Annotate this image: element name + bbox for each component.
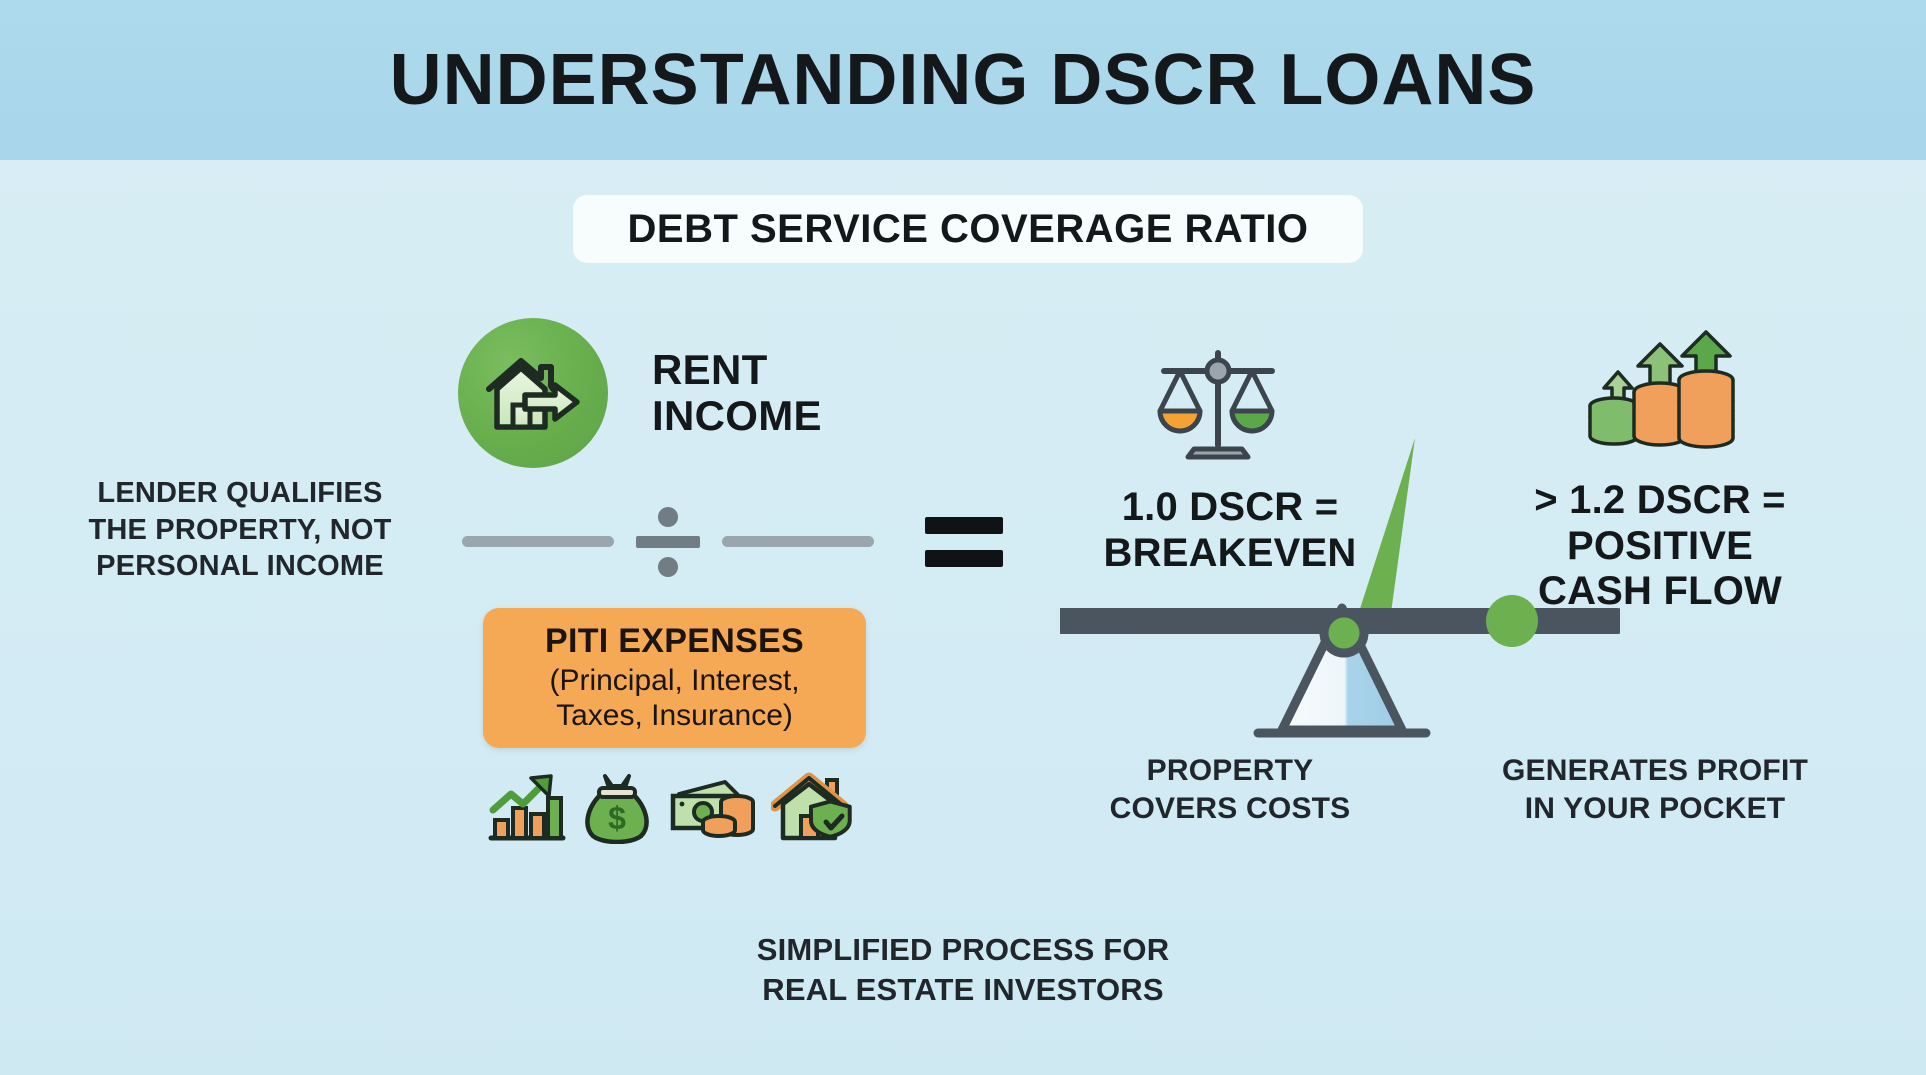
positive-caption-line-1: GENERATES PROFIT xyxy=(1480,752,1830,790)
lender-note-line-2: THE PROPERTY, NOT xyxy=(60,512,420,549)
piti-subtitle: (Principal, Interest, Taxes, Insurance) xyxy=(549,664,799,734)
footer-note: SIMPLIFIED PROCESS FOR REAL ESTATE INVES… xyxy=(663,930,1263,1009)
rent-income-label: RENT INCOME xyxy=(652,347,822,439)
division-row xyxy=(462,513,874,569)
seesaw-balance xyxy=(1060,430,1620,765)
breakeven-caption: PROPERTY COVERS COSTS xyxy=(1070,752,1390,827)
footer-line-2: REAL ESTATE INVESTORS xyxy=(663,970,1263,1010)
header-band: UNDERSTANDING DSCR LOANS xyxy=(0,0,1926,160)
piti-title: PITI EXPENSES xyxy=(545,623,804,660)
divider-rule-right xyxy=(722,536,874,547)
subtitle-label: DEBT SERVICE COVERAGE RATIO xyxy=(628,207,1309,252)
footer-line-1: SIMPLIFIED PROCESS FOR xyxy=(663,930,1263,970)
subtitle-pill: DEBT SERVICE COVERAGE RATIO xyxy=(573,195,1363,263)
breakeven-caption-line-2: COVERS COSTS xyxy=(1070,790,1390,828)
house-arrow-icon xyxy=(458,318,608,468)
divide-dot-top xyxy=(658,507,678,527)
piti-sub-line-2: Taxes, Insurance) xyxy=(549,699,799,734)
rent-income-group: RENT INCOME xyxy=(458,318,822,468)
page-title: UNDERSTANDING DSCR LOANS xyxy=(390,44,1537,116)
rent-income-line-2: INCOME xyxy=(652,393,822,439)
lender-note-line-3: PERSONAL INCOME xyxy=(60,548,420,585)
growth-chart-icon xyxy=(487,772,567,849)
equals-symbol-icon xyxy=(925,513,1003,571)
rent-income-line-1: RENT xyxy=(652,347,822,393)
divide-bar xyxy=(636,536,700,548)
positive-caption-line-2: IN YOUR POCKET xyxy=(1480,790,1830,828)
divider-rule-left xyxy=(462,536,614,547)
positive-caption: GENERATES PROFIT IN YOUR POCKET xyxy=(1480,752,1830,827)
svg-text:$: $ xyxy=(608,800,626,836)
house-shield-icon xyxy=(771,772,857,849)
breakeven-caption-line-1: PROPERTY xyxy=(1070,752,1390,790)
divide-symbol-icon xyxy=(628,513,708,569)
piti-expenses-box: PITI EXPENSES (Principal, Interest, Taxe… xyxy=(483,608,866,748)
equals-bar-top xyxy=(925,517,1003,534)
lender-qualifies-note: LENDER QUALIFIES THE PROPERTY, NOT PERSO… xyxy=(60,475,420,585)
cash-coins-icon xyxy=(667,772,759,849)
money-bag-icon: $ xyxy=(579,772,655,849)
piti-sub-line-1: (Principal, Interest, xyxy=(549,664,799,699)
infographic-canvas: UNDERSTANDING DSCR LOANS DEBT SERVICE CO… xyxy=(0,0,1926,1075)
divide-dot-bottom xyxy=(658,557,678,577)
lender-note-line-1: LENDER QUALIFIES xyxy=(60,475,420,512)
expense-icon-row: $ xyxy=(487,772,857,849)
equals-bar-bottom xyxy=(925,550,1003,567)
